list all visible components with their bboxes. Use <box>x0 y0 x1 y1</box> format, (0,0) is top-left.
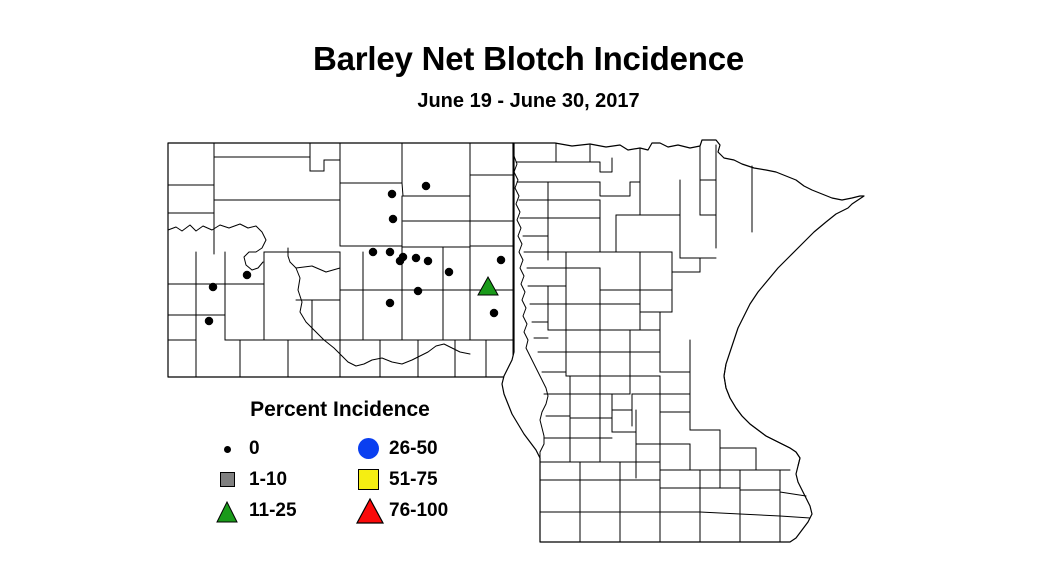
legend-symbol-gray-square-icon <box>215 466 249 494</box>
legend-item-11-25[interactable]: 11-25 <box>215 495 297 526</box>
map-point <box>422 182 430 190</box>
legend-item-76-100[interactable]: 76-100 <box>355 495 448 526</box>
map-point <box>386 248 394 256</box>
legend-symbol-dot-icon <box>215 435 249 463</box>
legend-symbol-blue-circle-icon <box>355 435 389 463</box>
map-point <box>490 309 498 317</box>
map-point <box>424 257 432 265</box>
map-page: Barley Net Blotch Incidence June 19 - Ju… <box>0 0 1057 562</box>
map-point <box>478 277 498 295</box>
legend-item-51-75[interactable]: 51-75 <box>355 464 448 495</box>
map-canvas <box>0 0 1057 562</box>
legend-column-left: 0 1-10 11-25 <box>215 433 297 526</box>
legend-label-11-25: 11-25 <box>249 501 297 520</box>
legend-label-51-75: 51-75 <box>389 470 438 489</box>
map-point <box>497 256 505 264</box>
map-point <box>209 283 217 291</box>
legend-symbol-green-triangle-icon <box>215 497 249 525</box>
legend-symbol-red-triangle-icon <box>355 497 389 525</box>
legend-item-1-10[interactable]: 1-10 <box>215 464 297 495</box>
map-point <box>386 299 394 307</box>
legend-item-0[interactable]: 0 <box>215 433 297 464</box>
map-point <box>243 271 251 279</box>
map-point <box>389 215 397 223</box>
map-point <box>445 268 453 276</box>
map-point <box>369 248 377 256</box>
map-point <box>205 317 213 325</box>
map-point <box>414 287 422 295</box>
legend-title: Percent Incidence <box>205 398 475 422</box>
legend: Percent Incidence 0 1-10 <box>205 398 475 538</box>
legend-label-0: 0 <box>249 439 260 458</box>
legend-column-right: 26-50 51-75 76-100 <box>355 433 448 526</box>
map-point <box>388 190 396 198</box>
legend-label-76-100: 76-100 <box>389 501 448 520</box>
map-point <box>399 253 407 261</box>
data-point-layer <box>0 0 1057 562</box>
legend-item-26-50[interactable]: 26-50 <box>355 433 448 464</box>
legend-label-1-10: 1-10 <box>249 470 287 489</box>
legend-symbol-yellow-square-icon <box>355 466 389 494</box>
legend-label-26-50: 26-50 <box>389 439 438 458</box>
map-point <box>412 254 420 262</box>
